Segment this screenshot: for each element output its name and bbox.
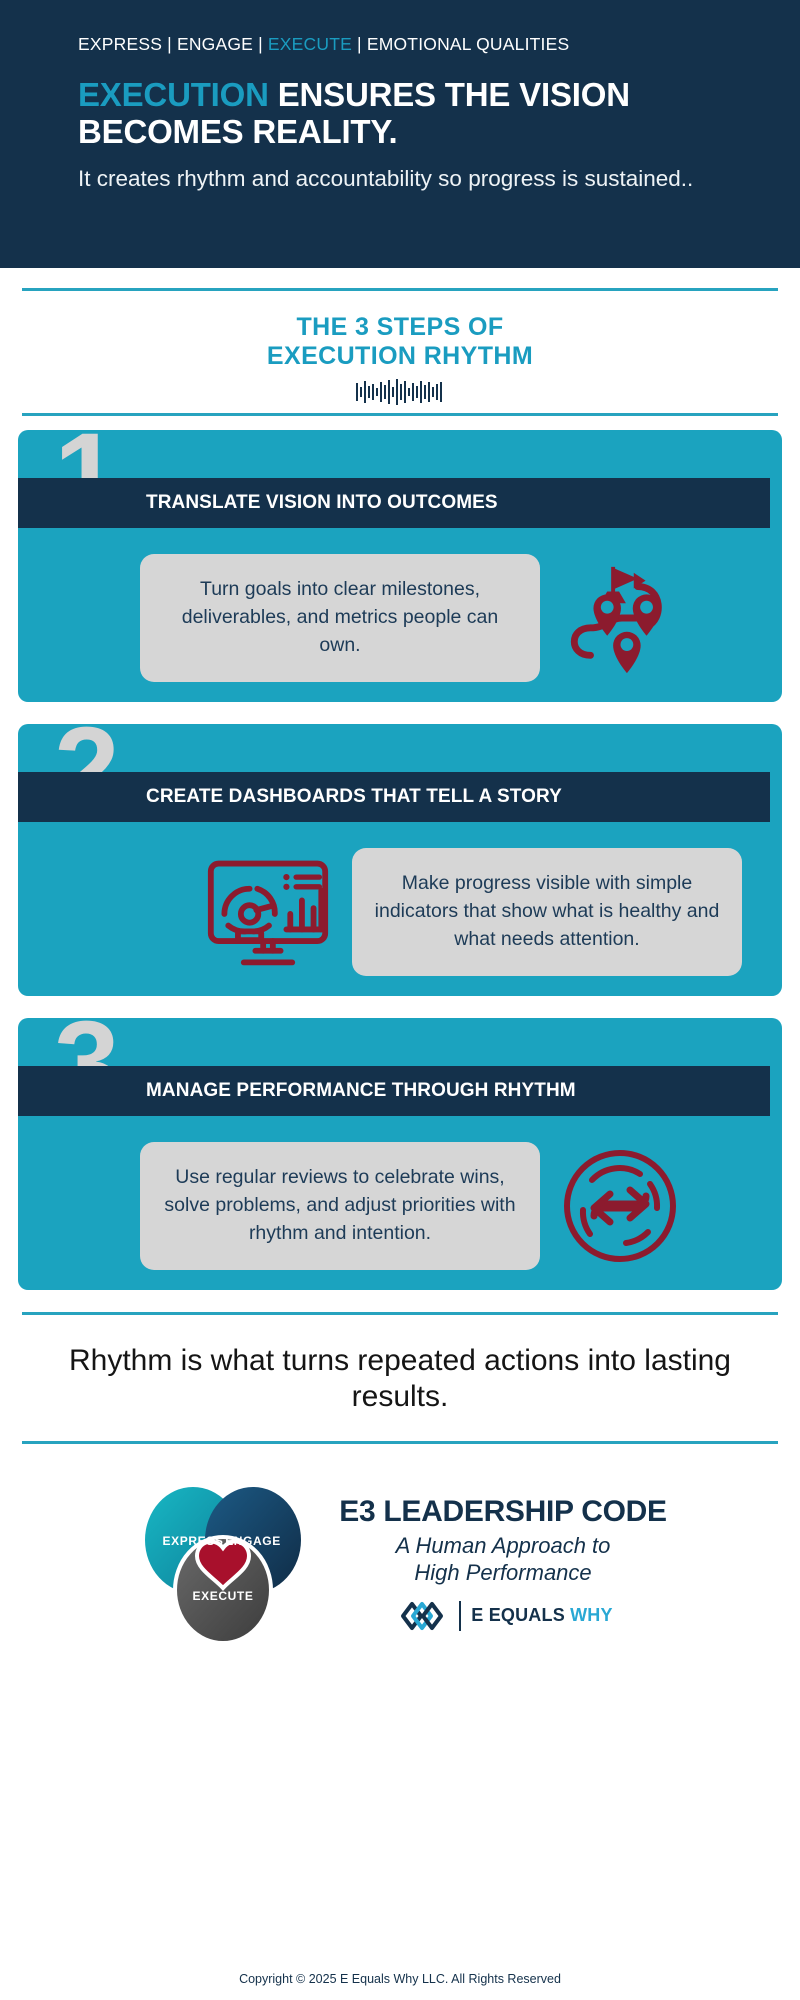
step-card-3: 3 MANAGE PERFORMANCE THROUGH RHYTHM Use … bbox=[18, 1018, 782, 1290]
step-body-2: Make progress visible with simple indica… bbox=[18, 828, 782, 996]
quote-text: Rhythm is what turns repeated actions in… bbox=[22, 1315, 778, 1441]
footer-section: EXPRESS ENGAGE EXECUTE E3 LEADERSHIP COD… bbox=[0, 1444, 800, 1653]
hero-subtitle: It creates rhythm and accountability so … bbox=[78, 165, 722, 193]
step-textbox-1: Turn goals into clear milestones, delive… bbox=[140, 554, 540, 681]
brand-tagline-line2: High Performance bbox=[414, 1560, 591, 1585]
roadmap-pins-flag-icon bbox=[561, 559, 679, 677]
venn-circles-icon: EXPRESS ENGAGE EXECUTE bbox=[133, 1478, 313, 1648]
cycle-arrows-circle-icon bbox=[560, 1146, 680, 1266]
venn-label-express: EXPRESS bbox=[163, 1534, 224, 1548]
step-icon-wrap-1 bbox=[540, 559, 700, 677]
step-title-bar-1: TRANSLATE VISION INTO OUTCOMES bbox=[18, 478, 770, 528]
eyebrow-part1: EXPRESS | ENGAGE | bbox=[78, 34, 268, 54]
section-heading-text: THE 3 STEPS OF EXECUTION RHYTHM bbox=[0, 313, 800, 371]
dashboard-monitor-chart-icon bbox=[205, 853, 331, 971]
copyright-text: Copyright © 2025 E Equals Why LLC. All R… bbox=[0, 1972, 800, 1986]
venn-label-execute: EXECUTE bbox=[193, 1589, 254, 1603]
section-heading-line1: THE 3 STEPS OF bbox=[296, 313, 503, 341]
section-heading-line2: EXECUTION RHYTHM bbox=[267, 342, 533, 370]
e-equals-why-wordmark: E EQUALS WHY bbox=[471, 1605, 612, 1626]
e-equals-why-logo-icon bbox=[393, 1596, 449, 1636]
eyebrow-part2: | EMOTIONAL QUALITIES bbox=[352, 34, 569, 54]
step-title-1: TRANSLATE VISION INTO OUTCOMES bbox=[146, 492, 498, 514]
step-body-3: Use regular reviews to celebrate wins, s… bbox=[18, 1122, 782, 1290]
step-icon-wrap-3 bbox=[540, 1146, 700, 1266]
e3-venn-logo: EXPRESS ENGAGE EXECUTE bbox=[133, 1478, 313, 1653]
hero-title: EXECUTION ENSURES THE VISION BECOMES REA… bbox=[78, 77, 722, 151]
step-textbox-3: Use regular reviews to celebrate wins, s… bbox=[140, 1142, 540, 1269]
infographic-page: EXPRESS | ENGAGE | EXECUTE | EMOTIONAL Q… bbox=[0, 0, 800, 2000]
section-heading: THE 3 STEPS OF EXECUTION RHYTHM bbox=[0, 291, 800, 413]
step-card-1: 1 TRANSLATE VISION INTO OUTCOMES Turn go… bbox=[18, 430, 782, 702]
wordmark-dark: E EQUALS bbox=[471, 1605, 565, 1625]
logo-divider bbox=[459, 1601, 461, 1631]
cards-container: 1 TRANSLATE VISION INTO OUTCOMES Turn go… bbox=[0, 416, 800, 1290]
eyebrow-breadcrumb: EXPRESS | ENGAGE | EXECUTE | EMOTIONAL Q… bbox=[78, 34, 722, 55]
step-title-3: MANAGE PERFORMANCE THROUGH RHYTHM bbox=[146, 1080, 576, 1102]
venn-label-engage: ENGAGE bbox=[225, 1534, 281, 1548]
step-title-bar-3: MANAGE PERFORMANCE THROUGH RHYTHM bbox=[18, 1066, 770, 1116]
step-textbox-2: Make progress visible with simple indica… bbox=[352, 848, 742, 975]
step-body-1: Turn goals into clear milestones, delive… bbox=[18, 534, 782, 702]
eyebrow-highlight: EXECUTE bbox=[268, 34, 352, 54]
step-title-2: CREATE DASHBOARDS THAT TELL A STORY bbox=[146, 786, 562, 808]
step-icon-wrap-2 bbox=[188, 853, 348, 971]
brand-title: E3 LEADERSHIP CODE bbox=[339, 1495, 666, 1529]
quote-section: Rhythm is what turns repeated actions in… bbox=[0, 1315, 800, 1441]
wordmark-accent: WHY bbox=[565, 1605, 613, 1625]
hero-section: EXPRESS | ENGAGE | EXECUTE | EMOTIONAL Q… bbox=[0, 0, 800, 268]
e-equals-why-lockup: E EQUALS WHY bbox=[339, 1596, 666, 1636]
hero-title-highlight: EXECUTION bbox=[78, 76, 269, 113]
step-title-bar-2: CREATE DASHBOARDS THAT TELL A STORY bbox=[18, 772, 770, 822]
brand-tagline-line1: A Human Approach to bbox=[396, 1533, 611, 1558]
brand-tagline: A Human Approach to High Performance bbox=[339, 1533, 666, 1586]
audio-waveform-icon bbox=[356, 379, 444, 405]
brand-block: E3 LEADERSHIP CODE A Human Approach to H… bbox=[339, 1495, 666, 1636]
step-card-2: 2 CREATE DASHBOARDS THAT TELL A STORY Ma… bbox=[18, 724, 782, 996]
